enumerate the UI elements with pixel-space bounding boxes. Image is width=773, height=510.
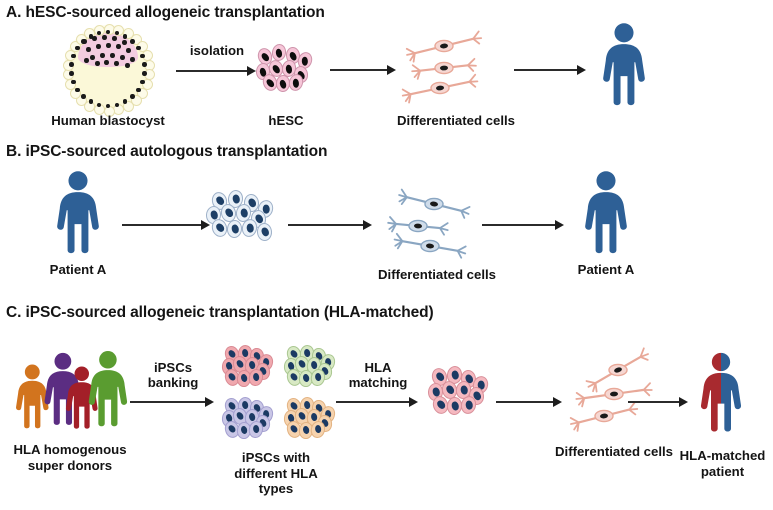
hla-matched-patient-label: HLA-matched patient bbox=[672, 448, 773, 479]
cell-nucleus bbox=[246, 223, 254, 233]
trophectoderm-nucleus bbox=[69, 71, 74, 76]
cell-nucleus bbox=[227, 372, 237, 382]
differentiated-cells-label-c: Differentiated cells bbox=[534, 445, 694, 460]
cell-nucleus bbox=[297, 359, 306, 369]
super-donors-label: HLA homogenous super donors bbox=[0, 442, 140, 473]
arrow-c-4 bbox=[628, 395, 690, 409]
matching-label-line1: HLA bbox=[364, 360, 391, 375]
differentiated-cells-illustration-b bbox=[378, 182, 496, 258]
ipsc-bank-label-line2: different HLA bbox=[234, 466, 318, 481]
differentiated-cells-illustration-a bbox=[388, 26, 506, 102]
human-blastocyst-illustration bbox=[66, 27, 150, 111]
icm-nucleus bbox=[96, 44, 101, 49]
icm-nucleus bbox=[102, 35, 107, 40]
cell-nucleus bbox=[240, 374, 248, 383]
trophectoderm-nucleus bbox=[136, 88, 141, 93]
super-donors-label-line2: super donors bbox=[28, 458, 112, 473]
patient-a-recipient-icon bbox=[580, 170, 632, 254]
trophectoderm-nucleus bbox=[140, 54, 145, 59]
hla-matched-label-line1: HLA-matched bbox=[680, 448, 766, 463]
differentiated-cells-illustration-c bbox=[556, 352, 676, 430]
arrow-isolation bbox=[176, 64, 258, 78]
arrow-b-1 bbox=[122, 218, 212, 232]
ipsc-bank-label: iPSCs with different HLA types bbox=[212, 450, 340, 497]
icm-nucleus bbox=[84, 58, 89, 63]
cell-nucleus bbox=[302, 56, 308, 65]
cell-nucleus bbox=[314, 425, 321, 434]
ipsc-bank-label-line1: iPSCs with bbox=[242, 450, 310, 465]
cell-nucleus bbox=[235, 411, 244, 421]
icm-nucleus bbox=[114, 61, 119, 66]
stem-cell bbox=[226, 219, 243, 238]
arrow-b-2 bbox=[288, 218, 374, 232]
panel-b-title: B. iPSC-sourced autologous transplantati… bbox=[6, 143, 327, 161]
patient-a-source-icon bbox=[52, 170, 104, 254]
panel-a: A. hESC-sourced allogeneic transplantati… bbox=[0, 0, 773, 140]
cell-nucleus bbox=[235, 359, 244, 369]
arrow-ipsc-banking-label: iPSCs banking bbox=[128, 361, 218, 391]
cell-nucleus bbox=[444, 384, 454, 395]
cell-nucleus bbox=[227, 424, 237, 434]
matched-ipsc-colony-illustration bbox=[428, 366, 490, 422]
trophectoderm-nucleus bbox=[130, 39, 135, 44]
trophectoderm-nucleus bbox=[71, 54, 76, 59]
patient-a-recipient-label: Patient A bbox=[546, 263, 666, 278]
trophectoderm-nucleus bbox=[142, 71, 147, 76]
cell-nucleus bbox=[260, 51, 270, 61]
cell-nucleus bbox=[434, 371, 445, 382]
stem-cell bbox=[271, 43, 288, 62]
ipsc-colony-hla-type-3 bbox=[222, 397, 274, 441]
cell-nucleus bbox=[289, 372, 299, 382]
trophectoderm-nucleus bbox=[75, 46, 80, 51]
icm-nucleus bbox=[100, 53, 105, 58]
cell-nucleus bbox=[289, 424, 299, 434]
panel-c-title: C. iPSC-sourced allogeneic transplantati… bbox=[6, 304, 434, 322]
trophectoderm-nucleus bbox=[142, 62, 147, 67]
trophectoderm-nucleus bbox=[75, 88, 80, 93]
trophectoderm-nucleus bbox=[81, 94, 86, 99]
icm-nucleus bbox=[82, 39, 87, 44]
banking-label-line1: iPSCs bbox=[154, 360, 192, 375]
cell-nucleus bbox=[450, 401, 459, 411]
hesc-colony-illustration bbox=[256, 44, 314, 94]
cell-nucleus bbox=[459, 385, 467, 395]
cell-nucleus bbox=[271, 63, 281, 73]
trophectoderm-nucleus bbox=[123, 34, 128, 39]
cell-nucleus bbox=[285, 64, 292, 73]
hla-matched-label-line2: patient bbox=[701, 464, 744, 479]
stem-cell bbox=[256, 222, 272, 241]
icm-nucleus bbox=[125, 63, 130, 68]
arrow-a-3 bbox=[514, 63, 588, 77]
icm-nucleus bbox=[95, 61, 100, 66]
cell-nucleus bbox=[240, 426, 248, 435]
arrow-hla-matching bbox=[336, 395, 420, 409]
banking-label-line2: banking bbox=[148, 375, 199, 390]
icm-nucleus bbox=[110, 53, 115, 58]
cell-nucleus bbox=[302, 374, 310, 383]
arrow-c-3 bbox=[496, 395, 564, 409]
cell-nucleus bbox=[279, 79, 287, 89]
cell-nucleus bbox=[230, 224, 239, 234]
ipsc-bank-label-line3: types bbox=[259, 481, 293, 496]
differentiated-cells-label-a: Differentiated cells bbox=[376, 114, 536, 129]
arrow-ipsc-banking bbox=[130, 395, 216, 409]
human-blastocyst-label: Human blastocyst bbox=[18, 114, 198, 129]
trophectoderm-nucleus bbox=[69, 62, 74, 67]
cell-nucleus bbox=[293, 78, 300, 87]
trophectoderm-nucleus bbox=[130, 94, 135, 99]
icm-nucleus bbox=[92, 36, 97, 41]
cell-nucleus bbox=[435, 399, 446, 410]
cell-nucleus bbox=[302, 426, 310, 435]
recipient-person-icon-a bbox=[598, 22, 650, 106]
cell-nucleus bbox=[223, 207, 233, 218]
cell-nucleus bbox=[297, 411, 306, 421]
trophectoderm-nucleus bbox=[136, 46, 141, 51]
cell-nucleus bbox=[275, 48, 283, 58]
cell-nucleus bbox=[252, 425, 259, 434]
icm-nucleus bbox=[86, 47, 91, 52]
ipsc-colony-illustration-b bbox=[206, 190, 278, 252]
icm-nucleus bbox=[116, 44, 121, 49]
icm-nucleus bbox=[122, 40, 127, 45]
differentiated-cells-label-b: Differentiated cells bbox=[352, 268, 522, 283]
ipsc-colony-hla-type-1 bbox=[222, 345, 274, 389]
cell-nucleus bbox=[260, 227, 270, 238]
arrow-hla-matching-label: HLA matching bbox=[334, 361, 422, 391]
panel-b: B. iPSC-sourced autologous transplantati… bbox=[0, 140, 773, 300]
icm-nucleus bbox=[104, 60, 109, 65]
cell-nucleus bbox=[450, 370, 458, 380]
trophectoderm-nucleus bbox=[89, 99, 94, 104]
panel-c: C. iPSC-sourced allogeneic transplantati… bbox=[0, 300, 773, 510]
hesc-label: hESC bbox=[238, 114, 334, 129]
icm-nucleus bbox=[90, 55, 95, 60]
icm-nucleus bbox=[130, 57, 135, 62]
donor-person-green bbox=[84, 348, 132, 434]
patient-a-source-label: Patient A bbox=[18, 263, 138, 278]
ipsc-colony-hla-type-4 bbox=[284, 397, 336, 441]
cell-nucleus bbox=[239, 208, 247, 218]
panel-a-title: A. hESC-sourced allogeneic transplantati… bbox=[6, 4, 325, 22]
arrow-isolation-label: isolation bbox=[176, 44, 258, 59]
cell-nucleus bbox=[265, 77, 275, 87]
super-donors-label-line1: HLA homogenous bbox=[13, 442, 126, 457]
arrow-b-3 bbox=[482, 218, 566, 232]
cell-nucleus bbox=[314, 373, 321, 382]
icm-nucleus bbox=[112, 36, 117, 41]
trophectoderm-nucleus bbox=[71, 80, 76, 85]
cell-nucleus bbox=[465, 400, 473, 410]
cell-nucleus bbox=[214, 222, 225, 233]
cell-nucleus bbox=[252, 373, 259, 382]
icm-nucleus bbox=[126, 48, 131, 53]
hla-matched-patient-icon bbox=[696, 352, 746, 432]
cell-nucleus bbox=[231, 194, 239, 204]
matching-label-line2: matching bbox=[349, 375, 408, 390]
ipsc-colony-hla-type-2 bbox=[284, 345, 336, 389]
icm-nucleus bbox=[120, 55, 125, 60]
icm-nucleus bbox=[106, 43, 111, 48]
